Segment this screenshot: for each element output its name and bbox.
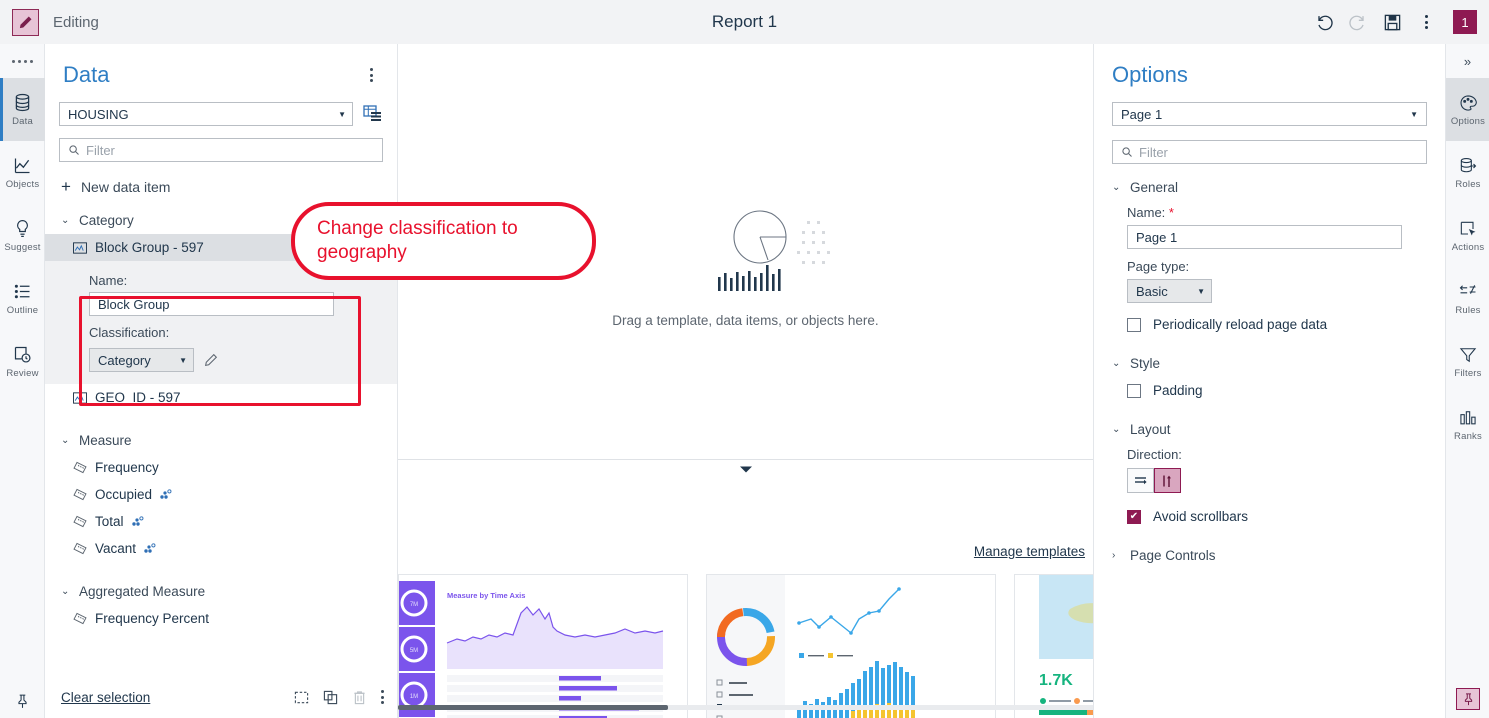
chevron-down-icon: [739, 465, 753, 474]
list-icon: [12, 281, 33, 302]
section-label: Page Controls: [1130, 548, 1216, 563]
section-header-style[interactable]: ⌄ Style: [1094, 332, 1445, 371]
pin-icon[interactable]: [0, 693, 45, 710]
data-filter-placeholder: Filter: [86, 143, 115, 158]
data-panel-header: Data: [45, 44, 397, 88]
trash-icon: [352, 690, 367, 705]
pencil-icon[interactable]: [12, 9, 39, 36]
classification-label: Classification:: [45, 316, 397, 344]
rightrail-item-actions[interactable]: Actions: [1446, 204, 1489, 267]
tree-item-frequency-percent[interactable]: Frequency Percent: [45, 605, 397, 632]
geo-field-icon: [73, 392, 87, 404]
tree-item-label: Block Group - 597: [95, 240, 204, 255]
data-panel-footer-icons: [294, 690, 384, 705]
avoid-scrollbars-checkbox[interactable]: ✔: [1127, 510, 1141, 524]
tree-item-vacant[interactable]: Vacant: [45, 535, 397, 562]
rules-icon: [1458, 282, 1478, 302]
sidebar-item-review[interactable]: Review: [0, 330, 45, 393]
rightrail-item-rules[interactable]: Rules: [1446, 267, 1489, 330]
section-label: Layout: [1130, 422, 1171, 437]
section-label: Style: [1130, 356, 1160, 371]
page-select[interactable]: Page 1 ▼: [1112, 102, 1427, 126]
avoid-scrollbars-label: Avoid scrollbars: [1153, 509, 1248, 524]
top-toolbar: Editing Report 1: [0, 0, 1489, 44]
padding-label: Padding: [1153, 383, 1203, 398]
manage-templates-link[interactable]: Manage templates: [974, 544, 1085, 559]
page-type-label: Page type:: [1094, 249, 1445, 274]
template-measure-by-time-axis[interactable]: 7M 5M 1M Measure by Time Axis: [398, 574, 688, 718]
report-canvas[interactable]: Drag a template, data items, or objects …: [398, 44, 1093, 718]
sidebar-item-suggest[interactable]: Suggest: [0, 204, 45, 267]
rightrail-item-filters[interactable]: Filters: [1446, 330, 1489, 393]
toolbar-left-group: Editing: [0, 9, 99, 36]
chevron-down-icon: ⌄: [1112, 358, 1122, 369]
app-root: Editing Report 1: [0, 0, 1489, 718]
tree-item-geo-id[interactable]: GEO_ID - 597: [45, 384, 397, 411]
kebab-menu-icon[interactable]: [364, 62, 379, 88]
rightrail-item-label: Filters: [1454, 368, 1481, 379]
chevron-down-icon: ⌄: [61, 215, 71, 226]
canvas-placeholder-text: Drag a template, data items, or objects …: [612, 313, 878, 328]
data-panel: Data HOUSING ▼: [45, 44, 398, 718]
template-donut-line-bar[interactable]: [706, 574, 996, 718]
editing-label: Editing: [53, 14, 99, 31]
new-data-item-label: New data item: [81, 179, 170, 195]
rightrail-item-roles[interactable]: Roles: [1446, 141, 1489, 204]
avoid-scrollbars-row[interactable]: ✔ Avoid scrollbars: [1094, 493, 1445, 524]
search-icon: [1121, 146, 1133, 158]
sidebar-item-objects[interactable]: Objects: [0, 141, 45, 204]
new-data-item-button[interactable]: + New data item: [45, 162, 397, 195]
measure-icon: [73, 461, 87, 474]
annotation-callout-text: Change classification to geography: [317, 217, 570, 265]
padding-row[interactable]: Padding: [1094, 371, 1445, 398]
pencil-edit-icon[interactable]: [204, 353, 218, 367]
palette-icon: [1458, 93, 1478, 113]
chevron-down-icon: ⌄: [1112, 424, 1122, 435]
section-header-layout[interactable]: ⌄ Layout: [1094, 398, 1445, 437]
review-icon: [12, 344, 33, 365]
undo-icon[interactable]: [1309, 7, 1339, 37]
tree-item-label: GEO_ID - 597: [95, 390, 181, 405]
roles-icon: [1458, 156, 1478, 176]
options-filter-input[interactable]: Filter: [1112, 140, 1427, 164]
tree-item-label: Total: [95, 514, 124, 529]
redo-icon[interactable]: [1343, 7, 1373, 37]
kebab-menu-icon[interactable]: [381, 690, 384, 704]
database-icon: [12, 92, 33, 113]
sidebar-item-label: Objects: [6, 179, 40, 190]
search-icon: [68, 144, 80, 156]
funnel-icon: [1458, 345, 1478, 365]
rightrail-item-ranks[interactable]: Ranks: [1446, 393, 1489, 456]
cursor-box-icon: [1458, 219, 1478, 239]
page-type-value: Basic: [1136, 284, 1168, 299]
scatter-dots-icon: [160, 489, 172, 500]
tree-item-label: Frequency: [95, 460, 159, 475]
chevron-down-icon: ⌄: [1112, 182, 1122, 193]
chevron-down-icon: ⌄: [61, 586, 71, 597]
rightrail-item-label: Rules: [1455, 305, 1480, 316]
pin-icon[interactable]: [1456, 688, 1480, 710]
group-label: Category: [79, 213, 134, 228]
chevron-down-icon: ▼: [179, 356, 187, 365]
options-filter-placeholder: Filter: [1139, 145, 1168, 160]
data-filter-input[interactable]: Filter: [59, 138, 383, 162]
data-filter-row: Filter: [45, 126, 397, 162]
rightrail-item-options[interactable]: Options: [1446, 78, 1489, 141]
direction-label: Direction:: [1094, 437, 1445, 462]
page-title: Report 1: [0, 12, 1489, 32]
periodically-reload-checkbox[interactable]: [1127, 318, 1141, 332]
direction-toggle-group: [1094, 462, 1445, 493]
options-panel-title: Options: [1094, 44, 1445, 88]
direction-horizontal-icon[interactable]: [1127, 468, 1154, 493]
template-gallery: Manage templates 7M 5M 1M: [398, 478, 1093, 718]
periodically-reload-row[interactable]: Periodically reload page data: [1094, 303, 1445, 332]
scatter-dots-icon: [144, 543, 156, 554]
svg-text:7M: 7M: [410, 602, 418, 608]
plus-icon: +: [61, 178, 71, 195]
rightrail-item-label: Actions: [1452, 242, 1485, 253]
name-label-text: Name:: [1127, 205, 1165, 220]
data-panel-footer: Clear selection: [45, 676, 398, 718]
lightbulb-icon: [12, 218, 33, 239]
group-header-measure[interactable]: ⌄ Measure: [45, 411, 397, 454]
rightrail-item-label: Ranks: [1454, 431, 1482, 442]
classification-select[interactable]: Category ▼: [89, 348, 194, 372]
required-marker: *: [1169, 205, 1174, 220]
geo-field-icon: [73, 242, 87, 254]
group-label: Aggregated Measure: [79, 584, 205, 599]
page-type-select[interactable]: Basic ▼: [1127, 279, 1212, 303]
sidebar-item-label: Suggest: [4, 242, 40, 253]
right-navigation-rail: » Options Roles: [1445, 44, 1489, 718]
data-source-select[interactable]: HOUSING ▼: [59, 102, 353, 126]
periodically-reload-label: Periodically reload page data: [1153, 317, 1327, 332]
name-input[interactable]: Block Group: [89, 292, 334, 316]
sidebar-item-label: Data: [12, 116, 33, 127]
chevron-double-right-icon[interactable]: »: [1446, 44, 1489, 78]
measure-icon: [73, 542, 87, 555]
data-panel-title: Data: [63, 62, 109, 88]
data-source-value: HOUSING: [68, 107, 129, 122]
chart-line-icon: [12, 155, 33, 176]
tree-item-label: Vacant: [95, 541, 136, 556]
chevron-down-icon: ⌄: [61, 435, 71, 446]
page-name-input[interactable]: Page 1: [1127, 225, 1402, 249]
data-source-row: HOUSING ▼: [45, 88, 397, 126]
sidebar-item-data[interactable]: Data: [0, 78, 45, 141]
chevron-down-icon: ▼: [1410, 110, 1418, 119]
user-badge[interactable]: 1: [1453, 10, 1477, 34]
table-grid-icon[interactable]: [363, 105, 383, 123]
section-label: General: [1130, 180, 1178, 195]
svg-text:1.7K: 1.7K: [1039, 672, 1073, 689]
tree-item-frequency[interactable]: Frequency: [45, 454, 397, 481]
tree-item-occupied[interactable]: Occupied: [45, 481, 397, 508]
gallery-scrollbar[interactable]: [398, 705, 668, 710]
group-label: Measure: [79, 433, 132, 448]
svg-text:5M: 5M: [410, 648, 418, 654]
tree-item-label: Occupied: [95, 487, 152, 502]
chevron-right-icon: ›: [1112, 550, 1122, 561]
svg-text:1M: 1M: [410, 694, 418, 700]
chevron-down-icon: ▼: [338, 110, 346, 119]
name-field-label: Name: *: [1094, 195, 1445, 220]
measure-icon: [73, 612, 87, 625]
classification-value: Category: [98, 353, 151, 368]
toolbar-right-group: 1: [1309, 0, 1481, 44]
select-all-icon[interactable]: [294, 690, 309, 705]
gallery-collapse-toggle[interactable]: [398, 460, 1093, 478]
rightrail-item-label: Roles: [1455, 179, 1480, 190]
rightrail-item-label: Options: [1451, 116, 1485, 127]
tree-item-content: Block Group - 597: [73, 240, 204, 255]
classification-row: Category ▼: [45, 348, 397, 372]
options-panel: Options Page 1 ▼ Filter ⌄ General Name: …: [1093, 44, 1445, 718]
measure-icon: [73, 488, 87, 501]
sidebar-item-label: Review: [6, 368, 38, 379]
kebab-menu-icon[interactable]: [1411, 7, 1441, 37]
clear-selection-link[interactable]: Clear selection: [61, 690, 150, 705]
group-header-aggregated-measure[interactable]: ⌄ Aggregated Measure: [45, 562, 397, 605]
tree-item-label: Frequency Percent: [95, 611, 209, 626]
measure-icon: [73, 515, 87, 528]
left-navigation-rail: Data Objects Suggest: [0, 44, 45, 718]
tree-item-total[interactable]: Total: [45, 508, 397, 535]
ranks-icon: [1458, 408, 1478, 428]
save-icon[interactable]: [1377, 7, 1407, 37]
annotation-callout: Change classification to geography: [291, 202, 596, 280]
rail-handle-icon[interactable]: [0, 44, 44, 78]
sidebar-item-outline[interactable]: Outline: [0, 267, 45, 330]
section-header-page-controls[interactable]: › Page Controls: [1094, 524, 1445, 563]
padding-checkbox[interactable]: [1127, 384, 1141, 398]
sidebar-item-label: Outline: [7, 305, 39, 316]
svg-text:Measure by Time Axis: Measure by Time Axis: [447, 591, 525, 600]
page-select-value: Page 1: [1121, 107, 1162, 122]
direction-vertical-icon[interactable]: [1154, 468, 1181, 493]
section-header-general[interactable]: ⌄ General: [1094, 164, 1445, 195]
chevron-down-icon: ▼: [1197, 287, 1205, 296]
copy-icon[interactable]: [323, 690, 338, 705]
placeholder-illustration-icon: [616, 199, 876, 299]
scatter-dots-icon: [132, 516, 144, 527]
